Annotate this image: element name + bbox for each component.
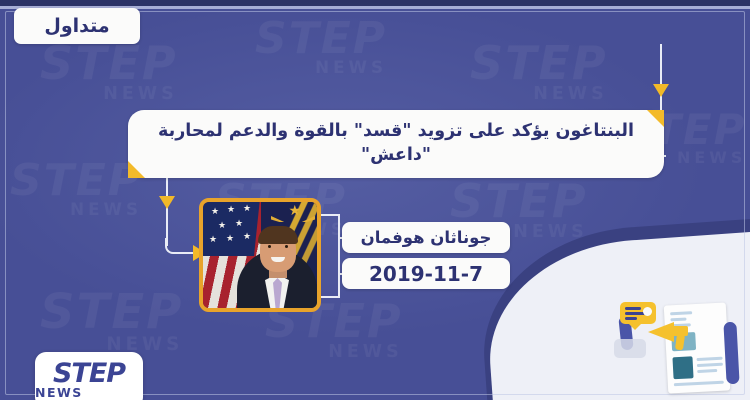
flag-star: ★ bbox=[226, 235, 234, 244]
logo-secondary-text: NEWS bbox=[35, 387, 83, 400]
news-card: STEPNEWS STEPNEWS STEPNEWS STEPNEWS STEP… bbox=[0, 0, 750, 400]
speech-bubble-icon bbox=[614, 339, 646, 358]
document-line bbox=[674, 381, 724, 387]
person-eye bbox=[285, 245, 288, 248]
decor-bar bbox=[723, 322, 739, 385]
flag-star: ★ bbox=[235, 220, 243, 229]
watermark-step: STEPNEWS bbox=[470, 42, 608, 102]
watermark-step: STEPNEWS bbox=[255, 18, 387, 76]
trending-tag[interactable]: متداول bbox=[14, 8, 140, 44]
person-name-label: جوناثان هوفمان bbox=[361, 228, 492, 247]
connector-corner bbox=[165, 238, 181, 254]
document-line bbox=[697, 357, 723, 361]
headline-box[interactable]: البنتاغون يؤكد على تزويد "قسد" بالقوة وا… bbox=[128, 110, 664, 178]
bracket-top-arm bbox=[320, 214, 340, 216]
person-eye bbox=[268, 245, 271, 248]
arrow-down-icon bbox=[159, 196, 175, 209]
watermark-step: STEPNEWS bbox=[40, 42, 178, 102]
bracket-spine bbox=[338, 214, 340, 298]
connector-photo-to-labels bbox=[320, 206, 346, 306]
document-line bbox=[670, 311, 692, 315]
date-box[interactable]: 2019-11-7 bbox=[342, 258, 510, 289]
corner-accent-icon bbox=[647, 110, 664, 127]
step-news-logo[interactable]: STEP NEWS bbox=[35, 352, 143, 400]
bracket-bottom-arm bbox=[320, 296, 340, 298]
logo-primary-text: STEP bbox=[53, 361, 125, 387]
megaphone-icon bbox=[648, 320, 690, 344]
flag-star: ★ bbox=[243, 233, 251, 242]
document-image-block bbox=[672, 356, 693, 379]
headline-text: البنتاغون يؤكد على تزويد "قسد" بالقوة وا… bbox=[150, 120, 642, 167]
person-hair bbox=[258, 226, 298, 244]
person-name-box[interactable]: جوناثان هوفمان bbox=[342, 222, 510, 253]
bubble-line bbox=[625, 307, 641, 310]
person-photo-inner: ★ ★ ★ ★ ★ ★ ★ ★ ★ bbox=[203, 202, 317, 308]
flag-star: ★ bbox=[227, 206, 235, 215]
bubble-line bbox=[625, 317, 637, 320]
document-line bbox=[697, 369, 717, 373]
connector-corner-fill bbox=[664, 155, 666, 157]
connector-headline-vertical bbox=[166, 178, 168, 246]
trending-tag-label: متداول bbox=[44, 15, 109, 37]
flag-star: ★ bbox=[209, 236, 217, 245]
flag-star: ★ bbox=[243, 205, 251, 214]
news-document-icon bbox=[664, 302, 731, 393]
watermark-step: STEPNEWS bbox=[10, 160, 142, 218]
document-line bbox=[697, 363, 723, 367]
corner-accent-icon bbox=[128, 161, 145, 178]
bubble-dot bbox=[643, 307, 652, 316]
bubble-line bbox=[625, 312, 645, 315]
arrow-down-icon bbox=[653, 84, 669, 97]
date-label: 2019-11-7 bbox=[369, 262, 483, 286]
seal-star-icon: ★ bbox=[288, 204, 301, 218]
flag-star: ★ bbox=[211, 208, 219, 217]
person-photo[interactable]: ★ ★ ★ ★ ★ ★ ★ ★ ★ bbox=[199, 198, 321, 312]
news-illustration bbox=[614, 286, 742, 396]
flag-star: ★ bbox=[218, 222, 226, 231]
watermark-step: STEPNEWS bbox=[40, 290, 183, 353]
